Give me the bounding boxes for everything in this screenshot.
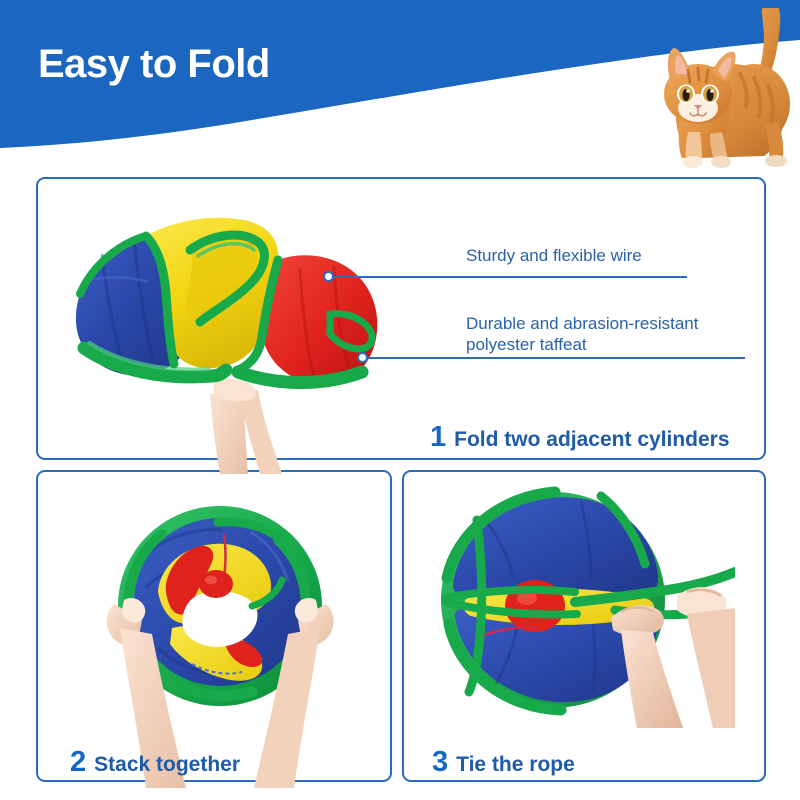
step-label-2: Stack together	[94, 754, 240, 775]
step-number-1: 1	[430, 423, 446, 452]
callout-label-wire: Sturdy and flexible wire	[466, 245, 642, 266]
step-caption-1: 1 Fold two adjacent cylinders	[430, 423, 730, 452]
step-number-2: 2	[70, 748, 86, 777]
step-label-1: Fold two adjacent cylinders	[454, 429, 729, 450]
product-photo-folded-tunnel	[62, 184, 412, 474]
product-photo-tie-rope	[425, 478, 735, 728]
callout-underline-0	[400, 276, 687, 278]
cat-photo	[636, 8, 800, 176]
callout-anchor-dot-0	[323, 271, 334, 282]
header-banner: Easy to Fold	[0, 0, 800, 180]
callout-label-fabric: Durable and abrasion-resistantpolyester …	[466, 313, 698, 356]
step-caption-2: 2 Stack together	[70, 748, 240, 777]
step-number-3: 3	[432, 748, 448, 777]
product-photo-stacked-ring	[100, 488, 340, 788]
callout-underline-1	[400, 357, 745, 359]
step-caption-3: 3 Tie the rope	[432, 748, 575, 777]
callout-leader-line-0	[328, 276, 406, 278]
page-title: Easy to Fold	[38, 42, 270, 86]
callout-anchor-dot-1	[357, 352, 368, 363]
step-label-3: Tie the rope	[456, 754, 575, 775]
